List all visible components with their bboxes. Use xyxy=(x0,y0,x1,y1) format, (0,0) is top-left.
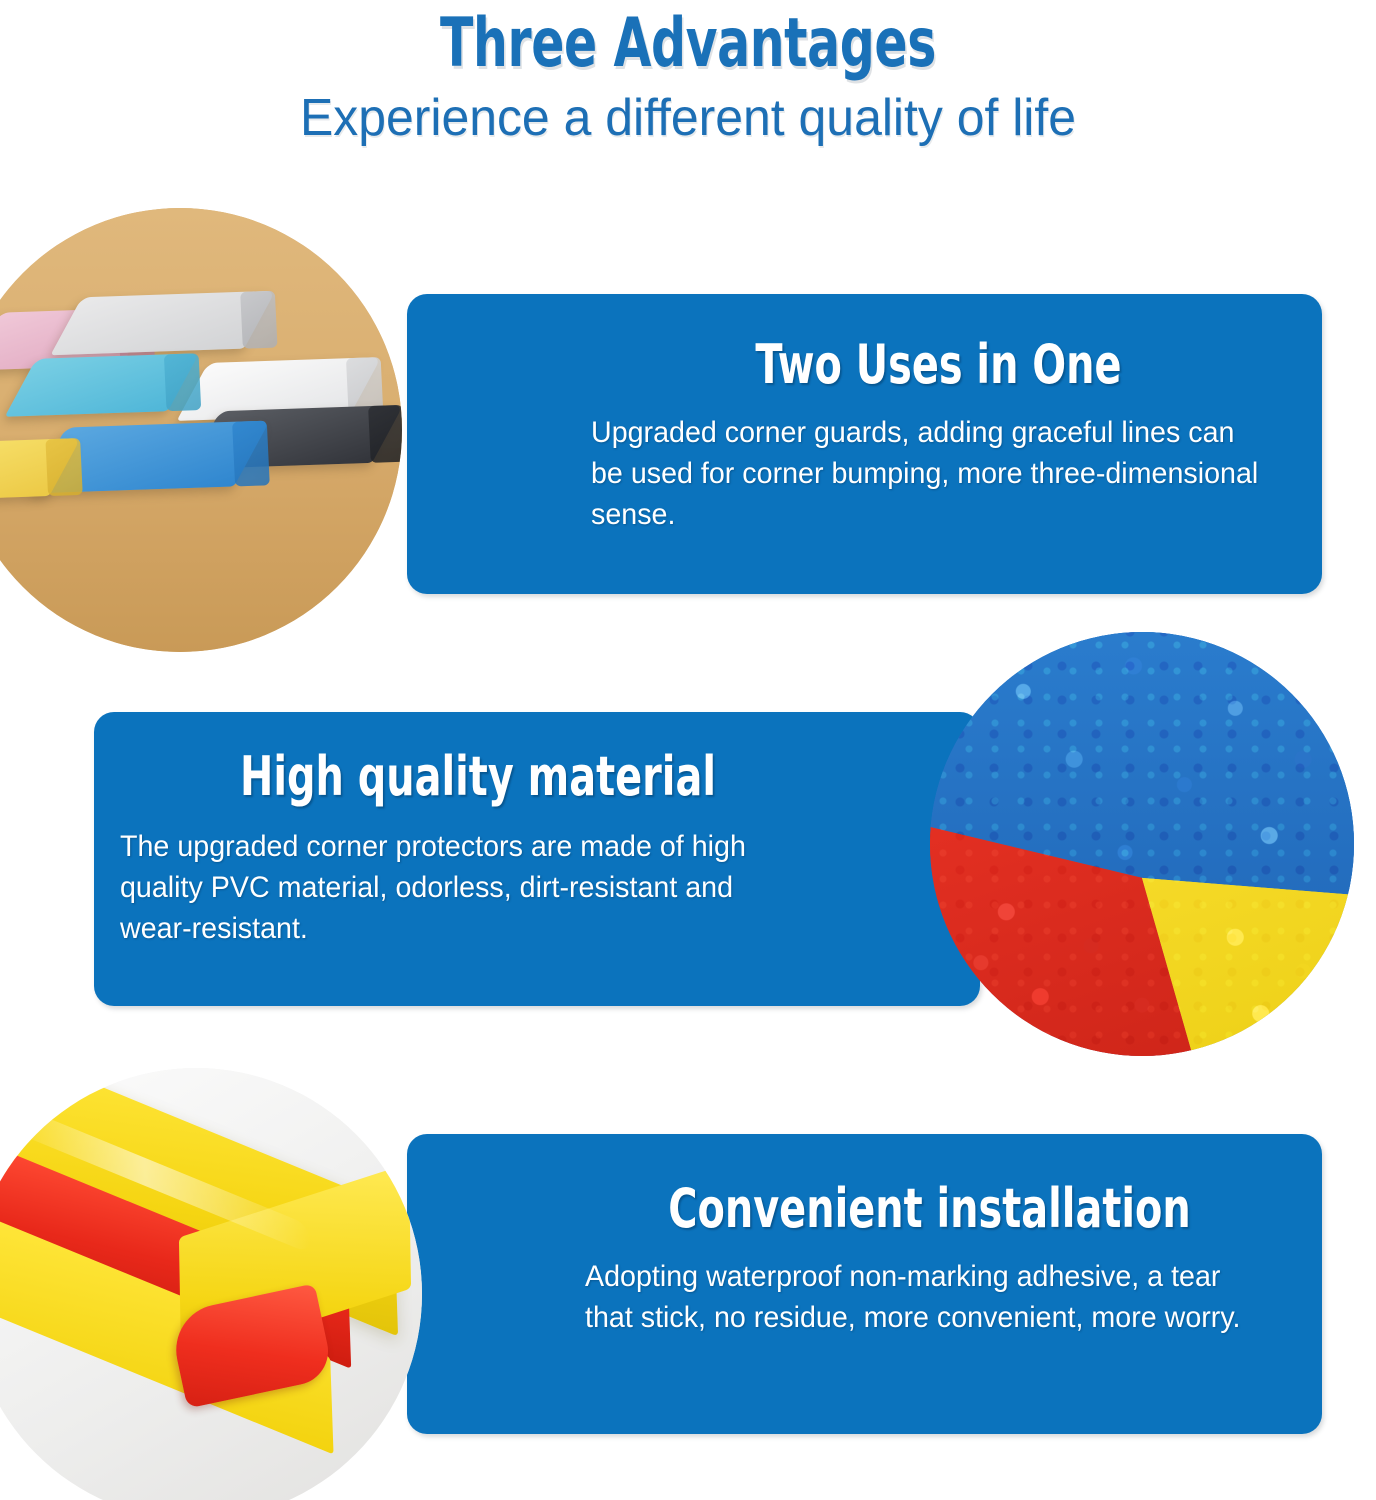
page-subtitle: Experience a different quality of life xyxy=(28,82,1349,148)
advantage-panel-1: Two Uses in One Upgraded corner guards, … xyxy=(407,294,1322,594)
advantage-2-body: The upgraded corner protectors are made … xyxy=(120,826,808,949)
pellet-texture-overlay xyxy=(930,632,1354,1056)
advantage-1-body: Upgraded corner guards, adding graceful … xyxy=(591,412,1259,535)
corner-guard-yellow xyxy=(0,438,81,500)
infographic-page: Three Advantages Experience a different … xyxy=(0,0,1376,1500)
advantage-1-heading: Two Uses in One xyxy=(650,336,1226,394)
header: Three Advantages Experience a different … xyxy=(0,0,1376,160)
advantage-3-content: Convenient installation Adopting waterpr… xyxy=(577,1134,1282,1434)
advantage-3-body: Adopting waterproof non-marking adhesive… xyxy=(585,1256,1251,1338)
advantage-panel-3: Convenient installation Adopting waterpr… xyxy=(407,1134,1322,1434)
advantage-1-content: Two Uses in One Upgraded corner guards, … xyxy=(587,294,1290,594)
corner-guard-gray xyxy=(50,291,275,356)
advantage-3-heading: Convenient installation xyxy=(640,1180,1218,1238)
page-title: Three Advantages xyxy=(138,0,1239,82)
corner-guard-light-blue xyxy=(5,353,200,417)
advantage-panel-2: High quality material The upgraded corne… xyxy=(94,712,980,1006)
corner-guards-photo xyxy=(0,208,402,652)
pvc-pellets-photo xyxy=(930,632,1354,1056)
advantage-2-content: High quality material The upgraded corne… xyxy=(116,712,840,1006)
advantage-2-heading: High quality material xyxy=(181,748,775,806)
adhesive-backing-photo xyxy=(0,1068,422,1500)
